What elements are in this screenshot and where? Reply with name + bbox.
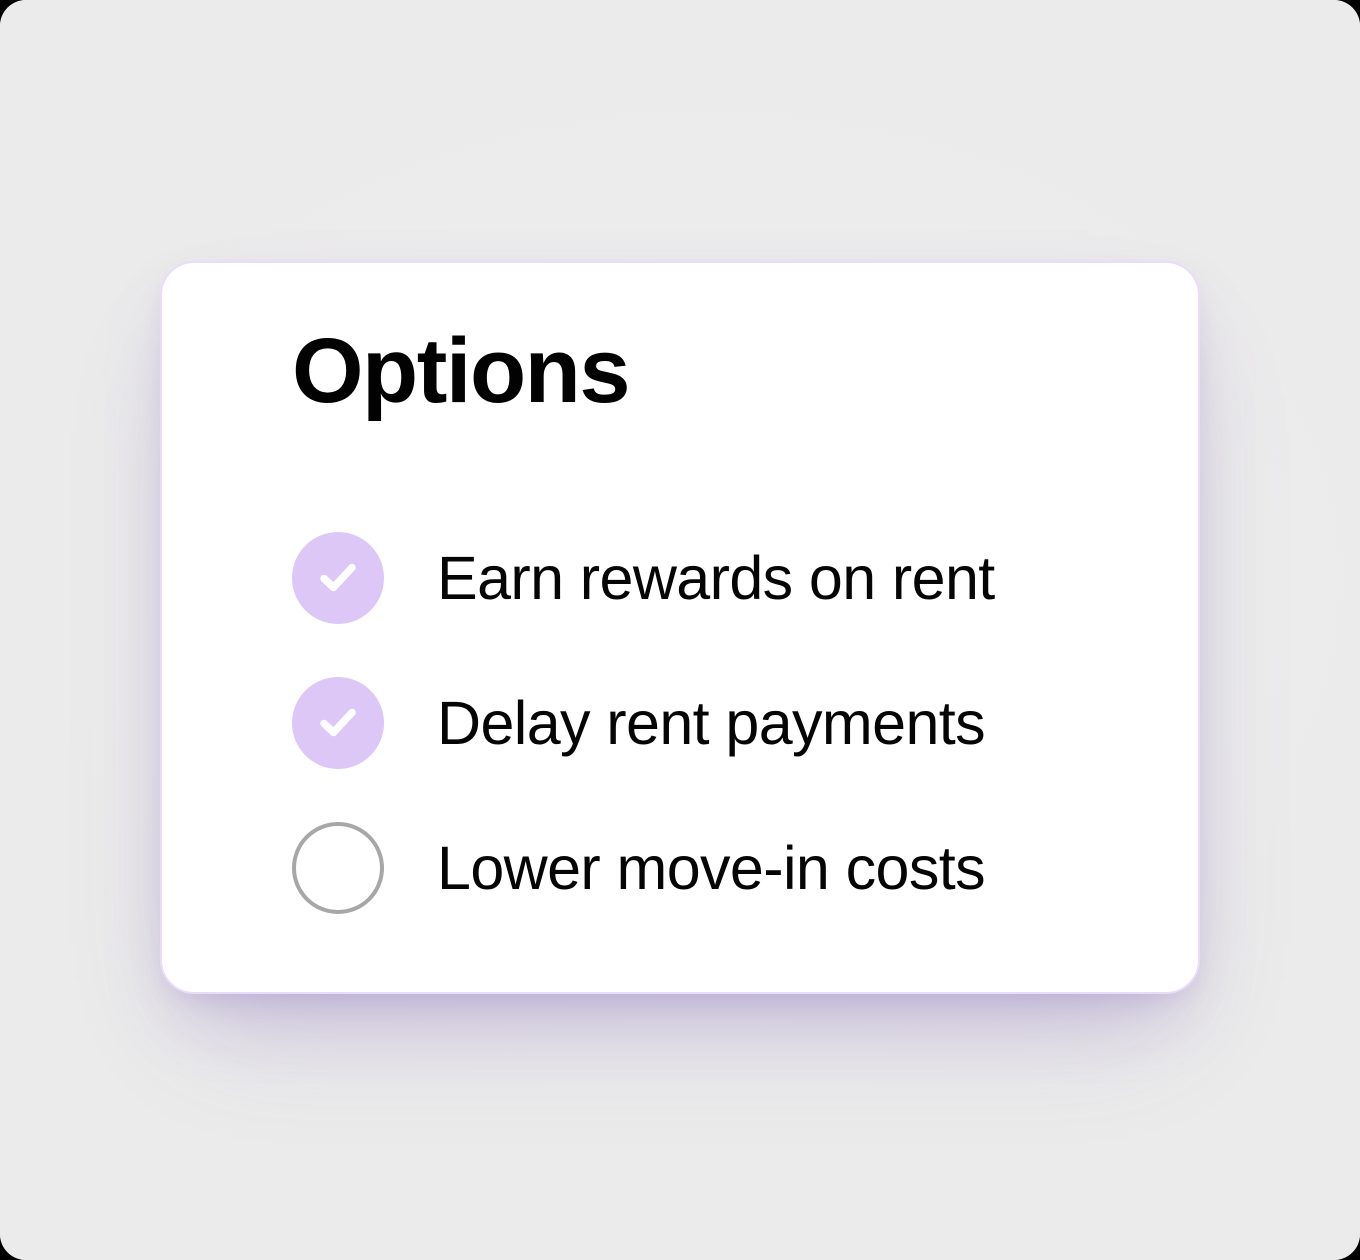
option-row-earn-rewards-on-rent[interactable]: Earn rewards on rent (292, 531, 1152, 625)
check-icon (313, 698, 363, 748)
options-card: Options Earn rewards on rent (160, 261, 1200, 994)
page-frame: Options Earn rewards on rent (0, 0, 1360, 1260)
option-row-lower-move-in-costs[interactable]: Lower move-in costs (292, 821, 1152, 915)
page-title: Options (292, 325, 629, 417)
card-content: Options Earn rewards on rent (162, 263, 1198, 992)
checkbox-lower-move-in-costs[interactable] (292, 822, 384, 914)
checkbox-earn-rewards-on-rent[interactable] (292, 532, 384, 624)
option-label: Delay rent payments (437, 693, 985, 754)
option-label: Lower move-in costs (437, 838, 985, 899)
checkbox-delay-rent-payments[interactable] (292, 677, 384, 769)
options-list: Earn rewards on rent Delay rent payments… (292, 531, 1152, 915)
check-icon (313, 553, 363, 603)
option-row-delay-rent-payments[interactable]: Delay rent payments (292, 676, 1152, 770)
option-label: Earn rewards on rent (437, 548, 995, 609)
